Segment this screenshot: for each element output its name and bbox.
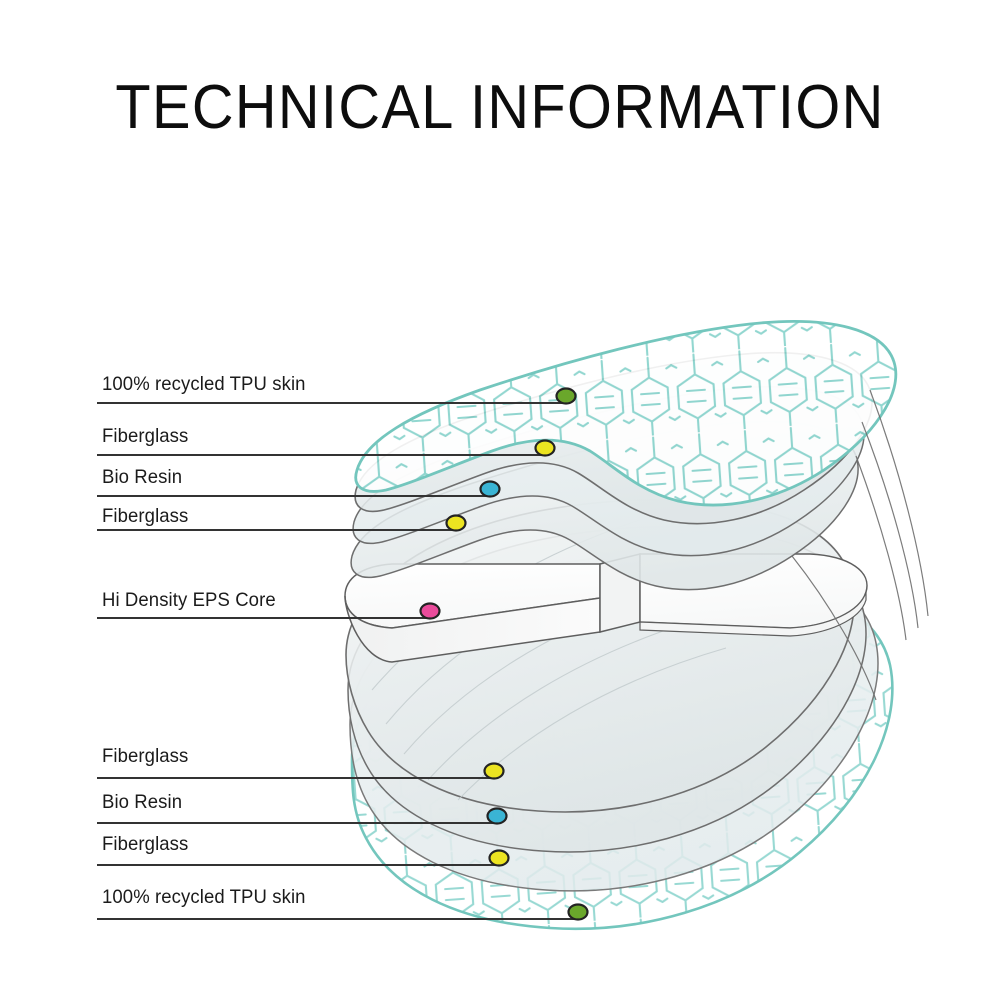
callout-dot-top-fiberglass-1[interactable] — [536, 441, 555, 456]
technical-information-page: TECHNICAL INFORMATION — [0, 0, 1000, 1000]
callout-dot-bottom-tpu-skin[interactable] — [569, 905, 588, 920]
callout-label-top-bio-resin: Bio Resin — [102, 466, 182, 489]
callout-dot-top-bio-resin[interactable] — [481, 482, 500, 497]
callout-dot-top-tpu-skin[interactable] — [557, 389, 576, 404]
callout-label-bottom-fiberglass-1: Fiberglass — [102, 745, 188, 768]
callout-dot-top-fiberglass-2[interactable] — [447, 516, 466, 531]
callout-label-bottom-fiberglass-2: Fiberglass — [102, 833, 188, 856]
callout-label-top-fiberglass-2: Fiberglass — [102, 505, 188, 528]
callout-label-top-fiberglass-1: Fiberglass — [102, 425, 188, 448]
callout-dot-bottom-bio-resin[interactable] — [488, 809, 507, 824]
callout-label-bottom-bio-resin: Bio Resin — [102, 791, 182, 814]
callout-label-bottom-tpu-skin: 100% recycled TPU skin — [102, 886, 306, 909]
callout-dot-bottom-fiberglass-1[interactable] — [485, 764, 504, 779]
callout-label-eps-core: Hi Density EPS Core — [102, 589, 276, 612]
callout-label-top-tpu-skin: 100% recycled TPU skin — [102, 373, 306, 396]
callout-dot-bottom-fiberglass-2[interactable] — [490, 851, 509, 866]
callout-dot-eps-core[interactable] — [421, 604, 440, 619]
